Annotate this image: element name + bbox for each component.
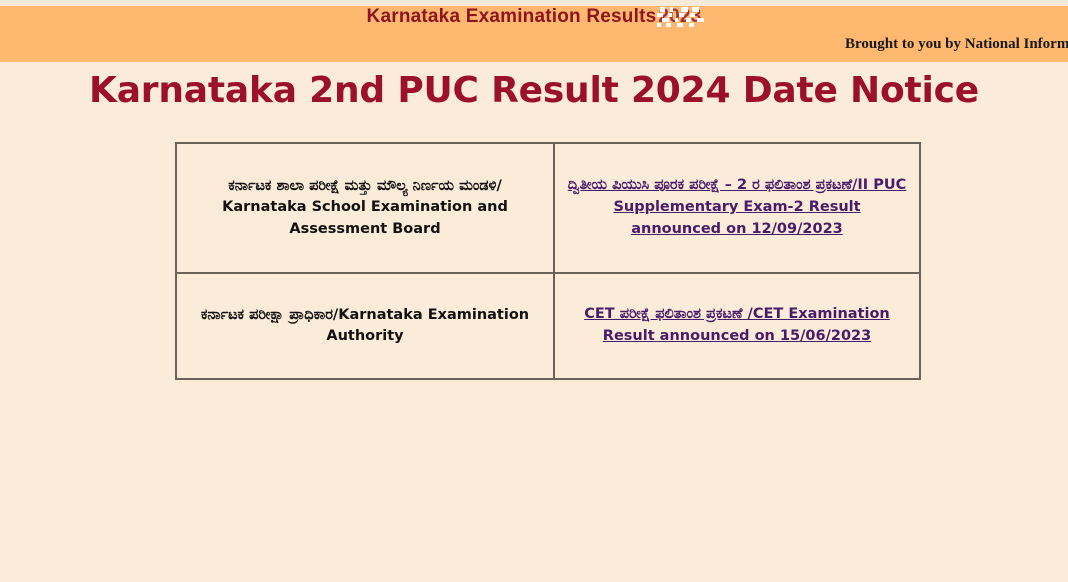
- table-cell-organization: ಕರ್ನಾಟಕ ಪರೀಕ್ಷಾ ಪ್ರಾಧಿಕಾರ/Karnataka Exam…: [176, 273, 554, 379]
- site-banner-title-text: Karnataka Examination Results: [367, 6, 657, 27]
- brought-to-you-by-text: Brought to you by National Inform: [845, 36, 1068, 53]
- table-row: ಕರ್ನಾಟಕ ಪರೀಕ್ಷಾ ಪ್ರಾಧಿಕಾರ/Karnataka Exam…: [176, 273, 920, 379]
- table-row: ಕರ್ನಾಟಕ ಶಾಲಾ ಪರೀಕ್ಷೆ ಮತ್ತು ಮೌಲ್ಯ ನಿರ್ಣಯ …: [176, 143, 920, 273]
- organization-name: ಕರ್ನಾಟಕ ಶಾಲಾ ಪರೀಕ್ಷೆ ಮತ್ತು ಮೌಲ್ಯ ನಿರ್ಣಯ …: [189, 176, 541, 239]
- organization-name: ಕರ್ನಾಟಕ ಪರೀಕ್ಷಾ ಪ್ರಾಧಿಕಾರ/Karnataka Exam…: [189, 305, 541, 347]
- site-banner-title: Karnataka Examination Results2023: [0, 6, 1068, 28]
- table-cell-organization: ಕರ್ನಾಟಕ ಶಾಲಾ ಪರೀಕ್ಷೆ ಮತ್ತು ಮೌಲ್ಯ ನಿರ್ಣಯ …: [176, 143, 554, 273]
- table-cell-result-link: CET ಪರೀಕ್ಷೆ ಫಲಿತಾಂಶ ಪ್ರಕಟಣೆ /CET Examina…: [554, 273, 920, 379]
- page-title: Karnataka 2nd PUC Result 2024 Date Notic…: [0, 70, 1068, 111]
- site-banner-title-year-glitched: 2023: [658, 6, 701, 28]
- result-notice-table: ಕರ್ನಾಟಕ ಶಾಲಾ ಪರೀಕ್ಷೆ ಮತ್ತು ಮೌಲ್ಯ ನಿರ್ಣಯ …: [175, 142, 921, 380]
- table-cell-result-link: ದ್ವಿತೀಯ ಪಿಯುಸಿ ಪೂರಕ ಪರೀಕ್ಷೆ – 2 ರ ಫಲಿತಾಂ…: [554, 143, 920, 273]
- result-announcement-link[interactable]: CET ಪರೀಕ್ಷೆ ಫಲಿತಾಂಶ ಪ್ರಕಟಣೆ /CET Examina…: [567, 304, 907, 348]
- result-announcement-link[interactable]: ದ್ವಿತೀಯ ಪಿಯುಸಿ ಪೂರಕ ಪರೀಕ್ಷೆ – 2 ರ ಫಲಿತಾಂ…: [567, 175, 907, 240]
